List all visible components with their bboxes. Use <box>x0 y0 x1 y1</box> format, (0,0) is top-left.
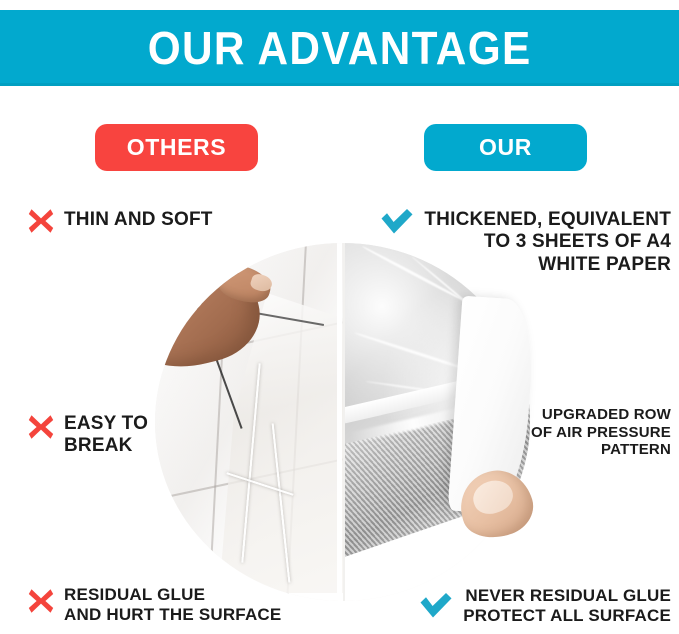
cross-icon <box>26 206 56 236</box>
badge-others-label: OTHERS <box>127 134 226 161</box>
check-icon <box>419 592 453 622</box>
feature-our-3: NEVER RESIDUAL GLUE PROTECT ALL SURFACE <box>393 586 671 626</box>
feature-others-3: RESIDUAL GLUE AND HURT THE SURFACE <box>26 586 281 625</box>
feature-others-2-label: EASY TO BREAK <box>64 413 148 458</box>
photo-half-others <box>155 243 343 601</box>
cross-icon <box>26 586 56 616</box>
header-banner: OUR ADVANTAGE <box>0 10 679 86</box>
feature-our-1-label: THICKENED, EQUIVALENT TO 3 SHEETS OF A4 … <box>424 209 671 276</box>
feature-our-2-label: UPGRADED ROW OF AIR PRESSURE PATTERN <box>531 406 671 459</box>
cross-icon <box>26 412 56 442</box>
product-comparison-photo <box>155 243 530 601</box>
badge-others: OTHERS <box>95 124 258 171</box>
feature-others-2: EASY TO BREAK <box>26 412 148 458</box>
photo-split-divider <box>337 243 342 601</box>
feature-others-3-label: RESIDUAL GLUE AND HURT THE SURFACE <box>64 585 281 625</box>
feature-others-1-label: THIN AND SOFT <box>64 209 213 231</box>
badge-our: OUR <box>424 124 587 171</box>
badges-row: OTHERS OUR <box>0 124 679 178</box>
page-title: OUR ADVANTAGE <box>148 25 532 71</box>
feature-others-1: THIN AND SOFT <box>26 206 213 236</box>
badge-our-label: OUR <box>479 134 532 161</box>
check-icon <box>380 208 414 238</box>
feature-our-3-label: NEVER RESIDUAL GLUE PROTECT ALL SURFACE <box>463 586 671 626</box>
feature-our-1: THICKENED, EQUIVALENT TO 3 SHEETS OF A4 … <box>341 206 671 276</box>
